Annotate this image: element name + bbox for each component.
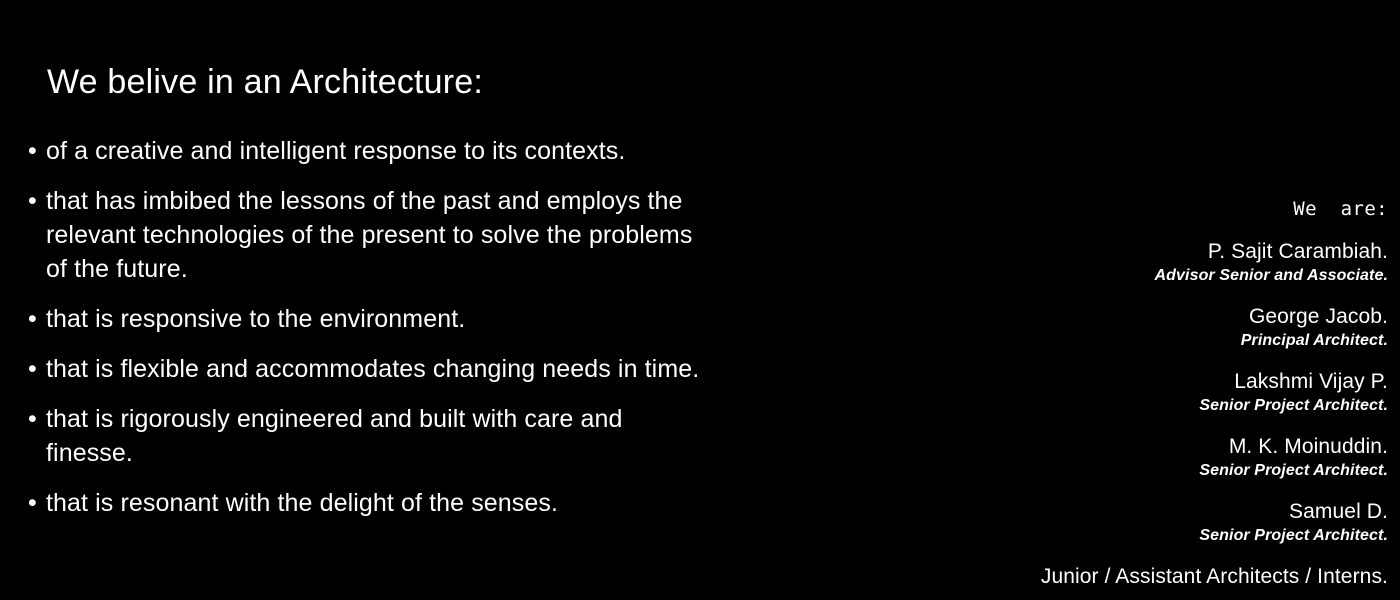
list-item: • that has imbibed the lessons of the pa… bbox=[22, 184, 702, 286]
team-member-name: M. K. Moinuddin. bbox=[828, 433, 1388, 460]
page-title: We belive in an Architecture: bbox=[47, 62, 483, 102]
team-member-role: Senior Project Architect. bbox=[828, 460, 1388, 482]
list-item: • that is flexible and accommodates chan… bbox=[22, 352, 702, 386]
bullet-point-icon: • bbox=[28, 402, 42, 436]
team-member-name: George Jacob. bbox=[828, 303, 1388, 330]
presentation-slide: We belive in an Architecture: • of a cre… bbox=[0, 0, 1400, 600]
list-item-text: that is rigorously engineered and built … bbox=[46, 402, 702, 470]
beliefs-column: We belive in an Architecture: • of a cre… bbox=[0, 0, 720, 600]
team-member-role: Principal Architect. bbox=[828, 330, 1388, 352]
list-item: • that is rigorously engineered and buil… bbox=[22, 402, 702, 470]
team-footer-text: Junior / Assistant Architects / Interns. bbox=[828, 563, 1388, 590]
team-member-role: Advisor Senior and Associate. bbox=[828, 265, 1388, 287]
bullet-point-icon: • bbox=[28, 184, 42, 218]
team-member-name: Samuel D. bbox=[828, 498, 1388, 525]
team-heading: We are: bbox=[828, 196, 1388, 222]
list-item: • that is responsive to the environment. bbox=[22, 302, 702, 336]
team-member-name: P. Sajit Carambiah. bbox=[828, 238, 1388, 265]
list-item: • of a creative and intelligent response… bbox=[22, 134, 702, 168]
team-member-name: Lakshmi Vijay P. bbox=[828, 368, 1388, 395]
list-item: • that is resonant with the delight of t… bbox=[22, 486, 702, 520]
bullet-point-icon: • bbox=[28, 302, 42, 336]
team-member-role: Senior Project Architect. bbox=[828, 395, 1388, 417]
bullet-point-icon: • bbox=[28, 352, 42, 386]
list-item-text: that is resonant with the delight of the… bbox=[46, 486, 702, 520]
list-item: Samuel D. Senior Project Architect. bbox=[828, 498, 1388, 547]
bullet-point-icon: • bbox=[28, 486, 42, 520]
list-item-text: that has imbibed the lessons of the past… bbox=[46, 184, 702, 286]
list-item-text: of a creative and intelligent response t… bbox=[46, 134, 702, 168]
beliefs-bullet-list: • of a creative and intelligent response… bbox=[22, 134, 702, 520]
list-item: M. K. Moinuddin. Senior Project Architec… bbox=[828, 433, 1388, 482]
bullet-point-icon: • bbox=[28, 134, 42, 168]
list-item: P. Sajit Carambiah. Advisor Senior and A… bbox=[828, 238, 1388, 287]
team-member-role: Senior Project Architect. bbox=[828, 525, 1388, 547]
list-item-text: that is flexible and accommodates changi… bbox=[46, 352, 702, 386]
list-item-text: that is responsive to the environment. bbox=[46, 302, 702, 336]
list-item: Lakshmi Vijay P. Senior Project Architec… bbox=[828, 368, 1388, 417]
team-credits-column: We are: P. Sajit Carambiah. Advisor Seni… bbox=[828, 196, 1388, 590]
list-item: George Jacob. Principal Architect. bbox=[828, 303, 1388, 352]
